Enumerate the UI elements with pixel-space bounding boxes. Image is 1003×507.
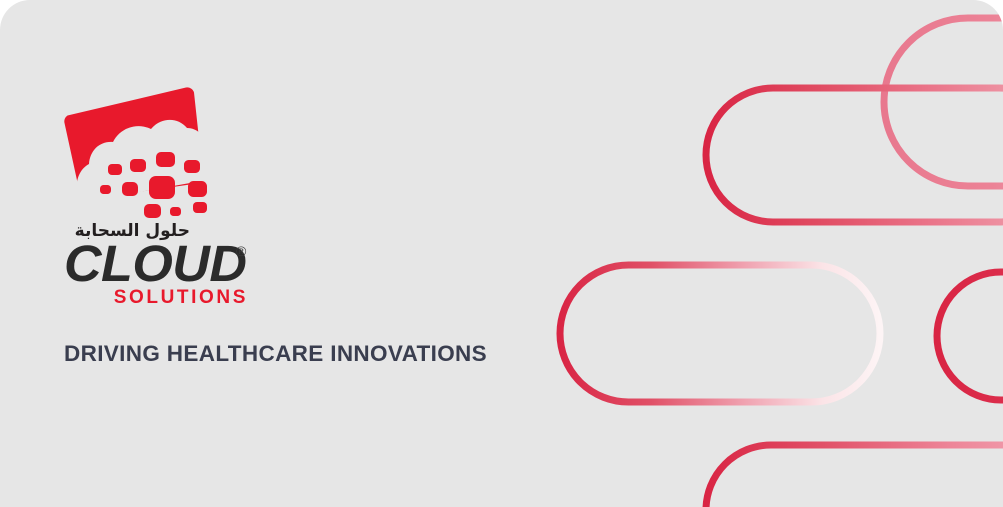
pill-middle (560, 265, 880, 402)
registered-trademark-icon: ® (236, 243, 246, 259)
pill-top-right (884, 18, 1003, 186)
pill-upper (706, 88, 1003, 222)
wordmark: حلول السحابة CLOUD ® SOLUTIONS (64, 223, 260, 307)
pill-right-edge (937, 272, 1003, 400)
pill-bottom (706, 445, 1003, 507)
cloud-pixel-logo-icon (64, 84, 236, 219)
cloud-word-row: CLOUD ® (64, 241, 260, 287)
banner-card: حلول السحابة CLOUD ® SOLUTIONS DRIVING H… (0, 0, 1003, 507)
brand-block: حلول السحابة CLOUD ® SOLUTIONS (64, 84, 324, 307)
tagline-heading: DRIVING HEALTHCARE INNOVATIONS (64, 341, 487, 367)
cloud-wordmark: CLOUD (64, 241, 246, 287)
